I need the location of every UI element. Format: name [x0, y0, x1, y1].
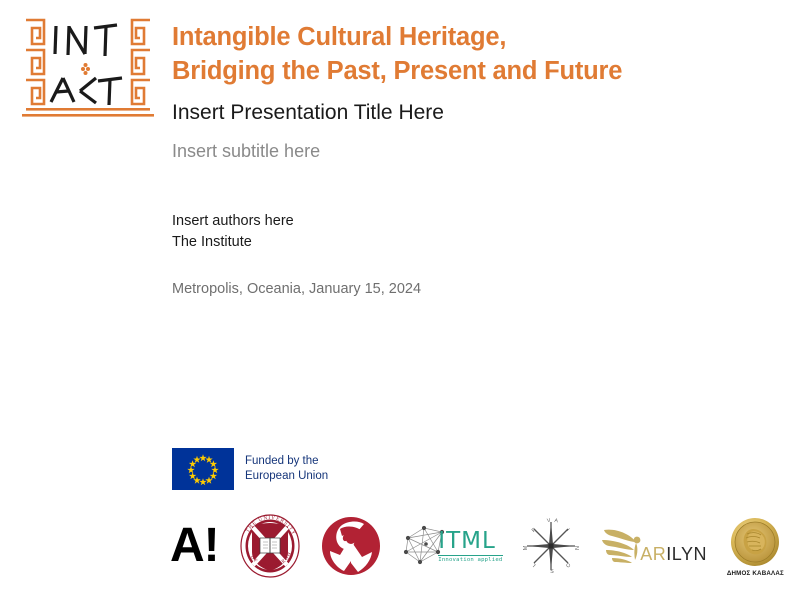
itml-wordmark: ITML — [438, 530, 502, 553]
partner-logos-row: A! — [170, 511, 784, 581]
svg-text:V: V — [547, 518, 552, 525]
institute-line: The Institute — [172, 232, 772, 253]
svg-text:N: N — [573, 546, 579, 550]
arilyn-wordmark: ARILYN — [640, 544, 707, 565]
intact-logo — [18, 12, 158, 124]
project-title-line-2: Bridging the Past, Present and Future — [172, 55, 772, 89]
presentation-title: Insert Presentation Title Here — [172, 100, 772, 126]
venue-date: Metropolis, Oceania, January 15, 2024 — [172, 279, 772, 299]
itml-tagline: Innovation applied — [438, 555, 502, 563]
aalto-mark: A! — [170, 522, 219, 570]
authors-block: Insert authors here The Institute — [172, 211, 772, 252]
partner-logo-compass: V A I N O S L M R — [522, 512, 580, 580]
project-title: Intangible Cultural Heritage, Bridging t… — [172, 21, 772, 89]
edinburgh-crest-icon: THE UNIVERSITY OF EDINBURGH — [239, 514, 301, 578]
partner-logo-edinburgh: THE UNIVERSITY OF EDINBURGH — [239, 512, 301, 580]
partner-logo-itml: ITML Innovation applied — [402, 512, 502, 580]
kavala-label: ΔΗΜΟΣ ΚΑΒΑΛΑΣ — [727, 570, 784, 577]
presentation-subtitle: Insert subtitle here — [172, 140, 772, 163]
svg-text:M: M — [523, 546, 529, 550]
presentation-slide: Intangible Cultural Heritage, Bridging t… — [0, 0, 794, 596]
logo-ornament — [81, 63, 90, 75]
partner-logo-kavala: ΔΗΜΟΣ ΚΑΒΑΛΑΣ — [727, 512, 784, 580]
kavala-coin-icon — [729, 516, 781, 568]
authors-line: Insert authors here — [172, 211, 772, 232]
eu-funding-block: Funded by the European Union — [172, 448, 328, 490]
eu-flag-icon — [172, 448, 234, 490]
eu-funding-line-2: European Union — [245, 469, 328, 484]
arilyn-wordmark-ar: AR — [640, 544, 666, 564]
eu-funding-line-1: Funded by the — [245, 454, 328, 469]
red-emblem-icon — [320, 515, 382, 577]
svg-text:A: A — [554, 518, 559, 525]
partner-logo-red-emblem — [320, 512, 382, 580]
partner-logo-arilyn: ARILYN — [600, 512, 707, 580]
svg-text:S: S — [551, 569, 555, 575]
compass-rose-icon: V A I N O S L M R — [522, 517, 580, 575]
svg-text:I: I — [565, 528, 570, 533]
arilyn-wordmark-ilyn: ILYN — [666, 544, 707, 564]
project-title-line-1: Intangible Cultural Heritage, — [172, 21, 772, 55]
partner-logo-aalto: A! — [170, 512, 219, 580]
eu-funding-text: Funded by the European Union — [245, 454, 328, 483]
svg-text:O: O — [565, 561, 572, 568]
